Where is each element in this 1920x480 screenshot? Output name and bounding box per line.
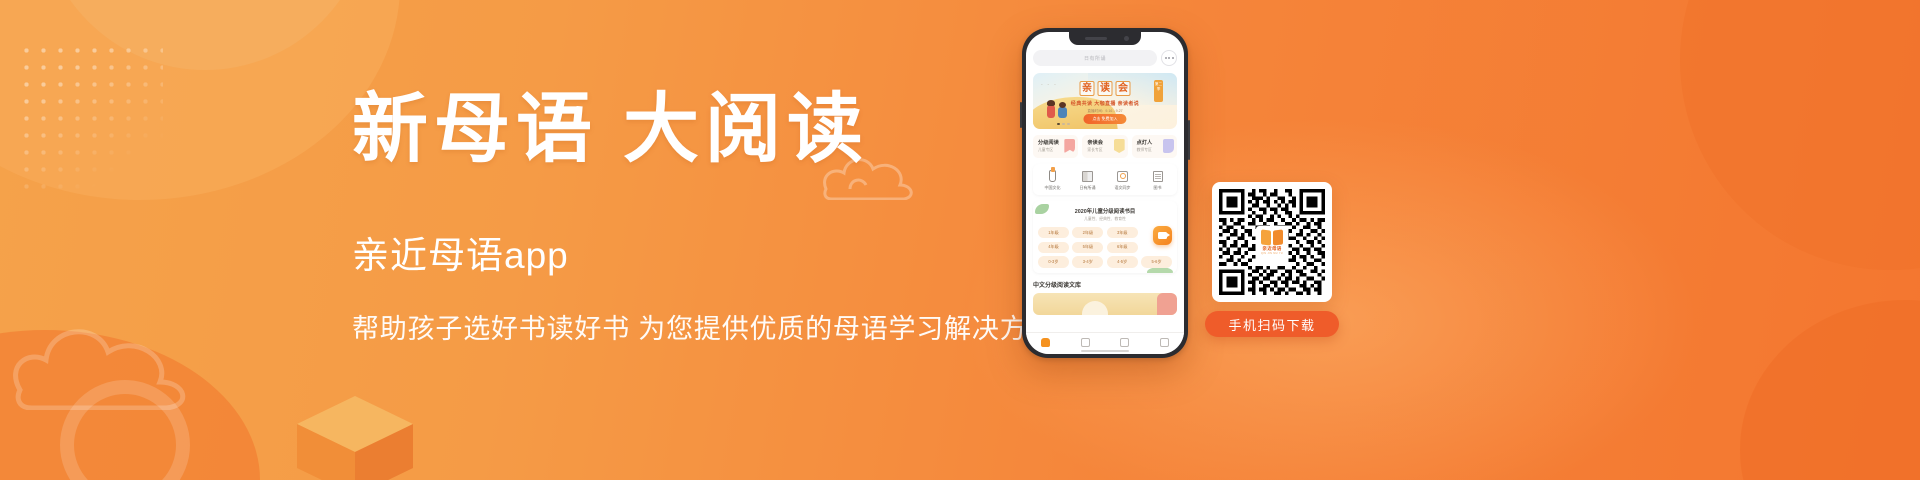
book-icon (1081, 338, 1090, 347)
check-icon (1120, 338, 1129, 347)
library-block-decor (1157, 293, 1177, 315)
grade-title: 2020年儿童分级阅读书目 (1038, 207, 1172, 215)
quick-icon-item[interactable]: 图书 (1140, 169, 1175, 191)
bottle-icon (1035, 169, 1070, 183)
quick-icon-item[interactable]: 日有所诵 (1070, 169, 1105, 191)
hero-banner[interactable]: ᵕ ᵕ ᵕ 亲 读 会 第二季 经典共读 大咖直播 亲读者说 直播时间：9.16… (1033, 73, 1177, 129)
grade-chip[interactable]: 5年级 (1072, 242, 1103, 253)
book-logo-icon (1261, 230, 1283, 245)
search-input[interactable]: 日有所诵 (1033, 50, 1157, 66)
tab-tasks[interactable] (1105, 338, 1145, 347)
library-sun-decor (1082, 301, 1108, 315)
grade-chip[interactable]: 4年级 (1038, 242, 1069, 253)
grade-chip[interactable]: 0-3岁 (1038, 256, 1069, 267)
app-search-bar[interactable]: 日有所诵 (1033, 50, 1177, 66)
bookmark-purple-icon (1163, 139, 1174, 153)
grade-chip[interactable]: 1年级 (1038, 227, 1069, 238)
copy-block: 新母语 大阅读 亲近母语app 帮助孩子选好书读好书 为您提供优质的母语学习解决… (352, 88, 1052, 346)
hero-title-char: 会 (1116, 81, 1131, 96)
birds-icon: ᵕ ᵕ ᵕ (1041, 82, 1058, 87)
hero-title-char: 亲 (1080, 81, 1095, 96)
category-card[interactable]: 点灯人 教师专区 (1132, 135, 1177, 158)
quick-icon-label: 中国文化 (1035, 185, 1070, 191)
home-icon (1041, 338, 1050, 347)
grade-chip[interactable]: 5-6岁 (1141, 256, 1172, 267)
grade-section: 2020年儿童分级阅读书目 儿童性、经典性、教育性 1年级 2年级 3年级 4年… (1033, 201, 1177, 273)
more-dots-icon[interactable] (1161, 50, 1177, 66)
hero-season-flag: 第二季 (1154, 80, 1163, 102)
carousel-dots[interactable] (1057, 123, 1070, 125)
tab-reading[interactable] (1066, 338, 1106, 347)
decor-blob-bottom-left (0, 330, 260, 480)
cloud-bottom-icon (10, 300, 200, 410)
grade-chip[interactable]: 6年级 (1107, 242, 1138, 253)
hero-cta-button[interactable]: 点击 免费加入 (1083, 114, 1126, 124)
video-play-icon[interactable] (1153, 226, 1172, 245)
qr-code-card: 亲近母语 QIN JIN MU YU (1212, 182, 1332, 302)
tab-profile[interactable] (1145, 338, 1185, 347)
home-indicator (1081, 350, 1129, 352)
phone-screen: 日有所诵 ᵕ ᵕ ᵕ 亲 读 会 第二季 经典共读 (1026, 32, 1184, 354)
phone-mockup: 日有所诵 ᵕ ᵕ ᵕ 亲 读 会 第二季 经典共读 (1022, 28, 1188, 358)
grade-chip[interactable]: 3年级 (1107, 227, 1138, 238)
illustration-child-1 (1047, 105, 1055, 118)
category-card[interactable]: 亲读会 家长专区 (1082, 135, 1127, 158)
headline: 新母语 大阅读 (352, 88, 1052, 173)
decor-dot-grid (18, 42, 163, 197)
category-card[interactable]: 分级阅读 儿童专区 (1033, 135, 1078, 158)
grade-chip[interactable]: 4-5岁 (1107, 256, 1138, 267)
circle-square-icon (1105, 169, 1140, 183)
app-content: 日有所诵 ᵕ ᵕ ᵕ 亲 读 会 第二季 经典共读 (1026, 32, 1184, 315)
decor-blob-top-right (1680, 0, 1920, 270)
grade-chip[interactable]: 2年级 (1072, 227, 1103, 238)
library-card[interactable] (1033, 293, 1177, 315)
quick-icon-item[interactable]: 语文同步 (1105, 169, 1140, 191)
app-name: 亲近母语app (352, 225, 1052, 279)
quick-icon-label: 日有所诵 (1070, 185, 1105, 191)
category-cards: 分级阅读 儿童专区 亲读会 家长专区 点灯人 教师专区 (1033, 135, 1177, 158)
qr-center-logo: 亲近母语 QIN JIN MU YU (1256, 226, 1288, 258)
grade-chip[interactable]: 3-4岁 (1072, 256, 1103, 267)
decor-blob-bottom-right (1740, 300, 1920, 480)
tagline: 帮助孩子选好书读好书 为您提供优质的母语学习解决方案 (352, 307, 1052, 346)
search-placeholder: 日有所诵 (1084, 55, 1106, 62)
library-title: 中文分级阅读文库 (1033, 280, 1177, 289)
quick-icon-item[interactable]: 中国文化 (1035, 169, 1070, 191)
illustration-child-2 (1058, 107, 1067, 118)
quick-icon-label: 图书 (1140, 185, 1175, 191)
decor-cube (295, 396, 415, 480)
hero-title-char: 读 (1098, 81, 1113, 96)
hero-subtitle: 经典共读 大咖直播 亲读者说 (1071, 100, 1139, 107)
hero-title: 亲 读 会 (1080, 81, 1131, 96)
promo-banner: 新母语 大阅读 亲近母语app 帮助孩子选好书读好书 为您提供优质的母语学习解决… (0, 0, 1920, 480)
grade-subtitle: 儿童性、经典性、教育性 (1038, 217, 1172, 222)
qr-logo-pinyin: QIN JIN MU YU (1261, 252, 1283, 255)
quick-icon-label: 语文同步 (1105, 185, 1140, 191)
list-book-icon (1140, 169, 1175, 183)
phone-notch (1069, 32, 1141, 45)
user-icon (1160, 338, 1169, 347)
quick-icon-row: 中国文化 日有所诵 语文同步 图书 (1033, 164, 1177, 195)
grade-chips: 1年级 2年级 3年级 4年级 5年级 6年级 0-3岁 3-4岁 4-5岁 5… (1038, 227, 1172, 268)
open-book-icon (1070, 169, 1105, 183)
qr-code: 亲近母语 QIN JIN MU YU (1219, 189, 1325, 295)
download-button[interactable]: 手机扫码下载 (1205, 311, 1339, 337)
decor-blob-top-left (0, 0, 400, 200)
decor-blob-top-left-2 (40, 0, 370, 70)
tab-home[interactable] (1026, 338, 1066, 347)
decor-ring (60, 380, 190, 480)
